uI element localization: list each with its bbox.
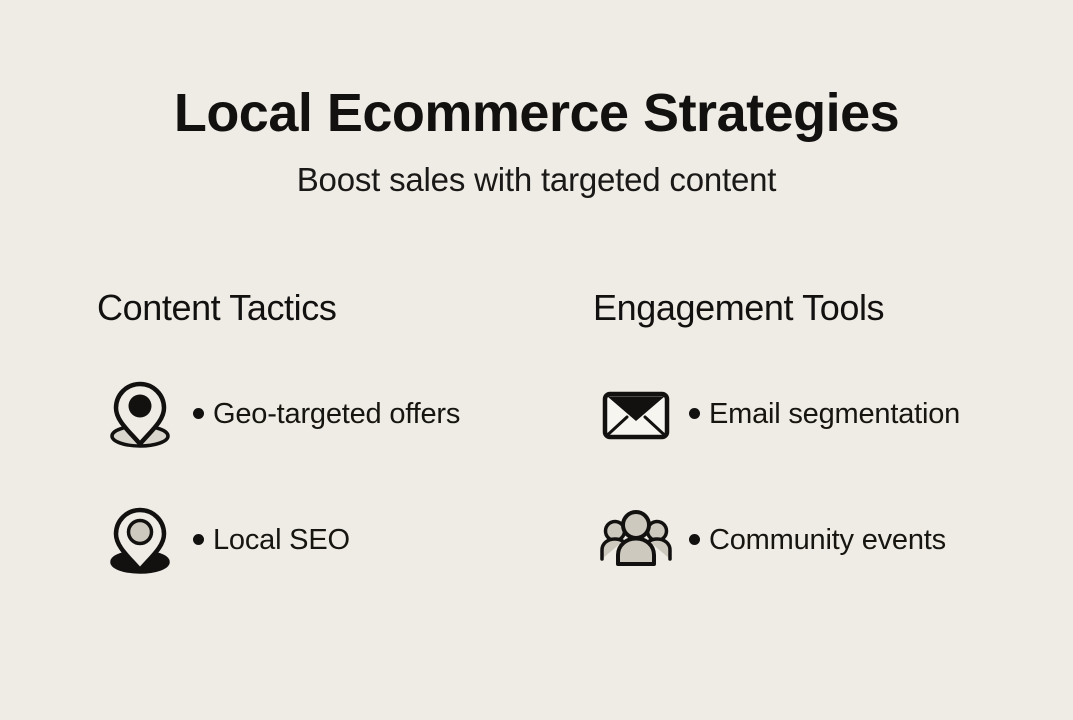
bullet-point <box>183 408 213 419</box>
bullet-point <box>183 534 213 545</box>
column-content-tactics: Content Tactics Geo-targeted offers <box>0 288 496 586</box>
list-item-label: Local SEO <box>213 519 350 561</box>
location-pin-outline-icon <box>97 497 183 583</box>
page-subtitle: Boost sales with targeted content <box>0 162 1073 198</box>
people-group-icon <box>593 497 679 583</box>
columns-container: Content Tactics Geo-targeted offers <box>0 288 1073 586</box>
bullet-point <box>679 408 709 419</box>
list-item[interactable]: Local SEO <box>97 494 496 586</box>
list-item[interactable]: Geo-targeted offers <box>97 368 496 460</box>
list-engagement-tools: Email segmentation <box>593 368 992 586</box>
page-title: Local Ecommerce Strategies <box>0 84 1073 142</box>
list-content-tactics: Geo-targeted offers Local SEO <box>97 368 496 586</box>
list-item-label: Email segmentation <box>709 393 960 435</box>
envelope-icon <box>593 371 679 457</box>
slide-header: Local Ecommerce Strategies Boost sales w… <box>0 0 1073 199</box>
list-item[interactable]: Email segmentation <box>593 368 992 460</box>
slide-canvas: Local Ecommerce Strategies Boost sales w… <box>0 0 1073 720</box>
location-pin-filled-icon <box>97 371 183 457</box>
list-item[interactable]: Community events <box>593 494 992 586</box>
column-heading-content-tactics: Content Tactics <box>97 288 496 328</box>
list-item-label: Community events <box>709 519 946 561</box>
column-heading-engagement-tools: Engagement Tools <box>593 288 992 328</box>
list-item-label: Geo-targeted offers <box>213 393 460 435</box>
column-engagement-tools: Engagement Tools Email segmentation <box>496 288 992 586</box>
bullet-point <box>679 534 709 545</box>
